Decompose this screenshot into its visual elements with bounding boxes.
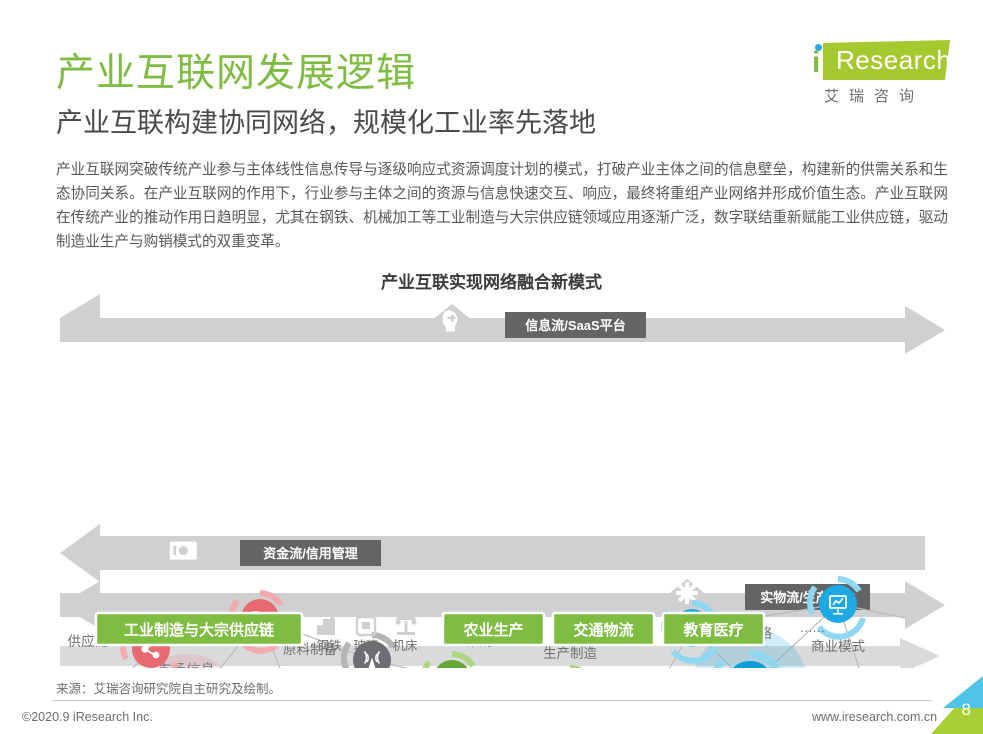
page-title: 产业互联网发展逻辑: [56, 42, 416, 98]
logo-wordmark: Research: [836, 45, 951, 76]
copyright-text: ©2020.9 iResearch Inc.: [22, 710, 153, 724]
footer-divider: [52, 700, 932, 701]
body-paragraph: 产业互联网突破传统产业参与主体线性信息传导与逐级响应式资源调度计划的模式，打破产…: [56, 158, 948, 254]
page-subtitle: 产业互联构建协同网络，规模化工业率先落地: [56, 101, 596, 140]
icon-label-machine-tool: 机床: [392, 639, 418, 653]
icon-label-glass: 玻璃: [353, 639, 378, 653]
icon-label-steel: 钢铁: [316, 639, 342, 653]
pill-label-transport: 交通物流: [573, 621, 633, 639]
node-label-manufacturing: 生产制造: [543, 646, 597, 661]
band-label-info-flow: 信息流/SaaS平台: [525, 318, 625, 333]
logo-dot-icon: [815, 44, 822, 51]
pill-label-agriculture: 农业生产: [462, 621, 523, 639]
logo-letter: i: [812, 48, 820, 78]
money-icon: [170, 542, 197, 560]
band-info-flow: 信息流/SaaS平台: [60, 294, 945, 354]
website-link[interactable]: www.iresearch.com.cn: [812, 710, 937, 724]
logo-chinese: 艾瑞咨询: [824, 85, 924, 106]
corner-decoration: [931, 676, 983, 734]
page-number: 8: [962, 700, 971, 720]
node-label-hub-supply: 市场信息: [157, 662, 215, 668]
node-label-business-model: 商业模式: [811, 639, 865, 654]
band-capital-flow: 资金流/信用管理: [60, 524, 925, 582]
pill-label-industrial: 工业制造与大宗供应链: [124, 621, 275, 639]
icon-item-steel[interactable]: 钢铁: [316, 613, 342, 653]
icon-item-machine-tool[interactable]: 机床: [392, 614, 418, 653]
band-label-capital-flow: 资金流/信用管理: [263, 546, 358, 561]
iresearch-logo: i Research 艾瑞咨询: [806, 40, 950, 108]
pill-more-dots: ······: [800, 624, 825, 638]
source-note: 来源：艾瑞咨询研究院自主研究及绘制。: [56, 678, 281, 697]
slide-page: 产业互联网发展逻辑 产业互联构建协同网络，规模化工业率先落地 产业互联网突破传统…: [0, 0, 983, 734]
pill-label-education-medical: 教育医疗: [682, 621, 743, 639]
diagram-canvas: 信息流/SaaS平台 资金流/信用管理: [0, 288, 983, 668]
icon-item-glass[interactable]: 玻璃: [353, 617, 378, 653]
